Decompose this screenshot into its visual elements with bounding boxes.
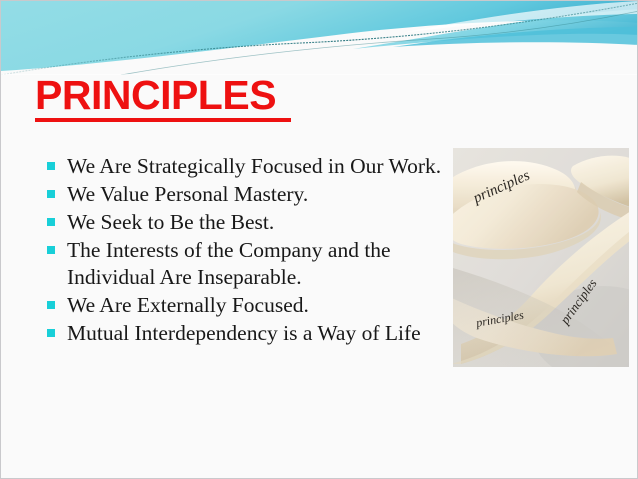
- bullet-list: We Are Strategically Focused in Our Work…: [41, 153, 453, 348]
- list-item: We Value Personal Mastery.: [41, 181, 453, 208]
- list-item: We Are Strategically Focused in Our Work…: [41, 153, 453, 180]
- list-item-label: We Seek to Be the Best.: [67, 209, 453, 236]
- ribbons-photo-graphic: [453, 148, 629, 367]
- header-decoration-band: [1, 1, 638, 75]
- square-bullet-icon: [47, 329, 55, 337]
- ribbons-photo: principles principles principles: [453, 148, 629, 367]
- list-item-label: The Interests of the Company and the Ind…: [67, 237, 453, 291]
- list-item: The Interests of the Company and the Ind…: [41, 237, 453, 291]
- square-bullet-icon: [47, 218, 55, 226]
- list-item: We Seek to Be the Best.: [41, 209, 453, 236]
- page-title: PRINCIPLES: [35, 73, 455, 117]
- square-bullet-icon: [47, 301, 55, 309]
- title-underline: [35, 118, 291, 122]
- square-bullet-icon: [47, 190, 55, 198]
- list-item-label: We Are Strategically Focused in Our Work…: [67, 153, 453, 180]
- list-item: We Are Externally Focused.: [41, 292, 453, 319]
- list-item-label: We Value Personal Mastery.: [67, 181, 453, 208]
- title-block: PRINCIPLES: [35, 73, 455, 122]
- list-item-label: Mutual Interdependency is a Way of Life: [67, 320, 453, 347]
- presentation-slide: PRINCIPLES We Are Strategically Focused …: [0, 0, 638, 479]
- square-bullet-icon: [47, 162, 55, 170]
- list-item-label: We Are Externally Focused.: [67, 292, 453, 319]
- square-bullet-icon: [47, 246, 55, 254]
- list-item: Mutual Interdependency is a Way of Life: [41, 320, 453, 347]
- header-swoosh-graphic: [1, 1, 638, 75]
